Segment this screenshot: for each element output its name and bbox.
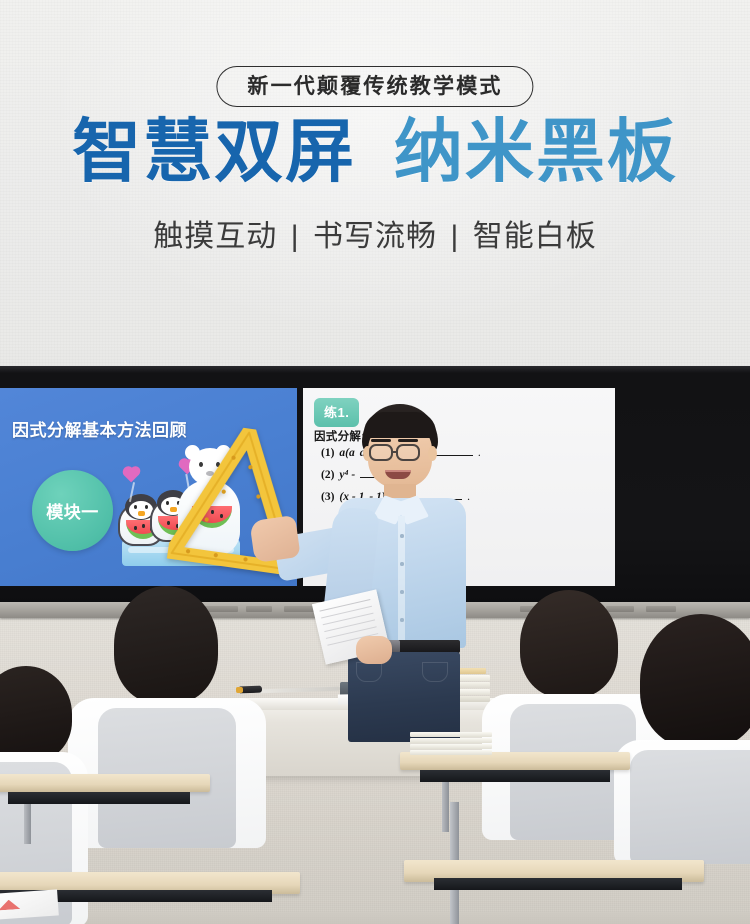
glasses-icon bbox=[369, 444, 393, 461]
teacher-figure bbox=[330, 404, 480, 734]
headline-part-1: 智慧双屏 bbox=[72, 117, 356, 186]
page-title: 智慧双屏 纳米黑板 bbox=[0, 117, 750, 186]
feature-item-3: 智能白板 bbox=[473, 220, 597, 253]
blackboard-top-edge bbox=[0, 366, 750, 373]
module-badge: 模块一 bbox=[32, 470, 113, 551]
desk-paper bbox=[0, 889, 59, 920]
tagline-text: 新一代颠覆传统教学模式 bbox=[247, 76, 502, 97]
student-desk bbox=[404, 860, 704, 924]
student-far-right bbox=[614, 614, 750, 864]
student-desk bbox=[0, 774, 210, 844]
feature-item-1: 触摸互动 bbox=[153, 220, 277, 253]
hero-banner: 新一代颠覆传统教学模式 智慧双屏 纳米黑板 触摸互动 | 书写流畅 | 智能白板 bbox=[0, 0, 750, 366]
headline-part-2: 纳米黑板 bbox=[394, 117, 678, 186]
ledge-marker-3 bbox=[284, 606, 314, 612]
student-desk bbox=[400, 752, 630, 832]
feature-separator-2: | bbox=[450, 220, 459, 253]
feature-separator-1: | bbox=[291, 220, 300, 253]
hand-holding-ruler bbox=[249, 515, 300, 563]
heart-icon-1 bbox=[124, 468, 139, 483]
desk-books bbox=[410, 732, 492, 754]
feature-item-2: 书写流畅 bbox=[313, 220, 437, 253]
teacher-hand bbox=[356, 636, 392, 664]
module-label: 模块一 bbox=[46, 498, 99, 523]
glasses-icon bbox=[396, 444, 420, 461]
classroom-photo: 因式分解基本方法回顾 模块一 bbox=[0, 366, 750, 924]
lesson-title: 因式分解基本方法回顾 bbox=[12, 416, 187, 441]
tagline-badge: 新一代颠覆传统教学模式 bbox=[216, 66, 533, 107]
feature-list: 触摸互动 | 书写流畅 | 智能白板 bbox=[0, 211, 750, 255]
